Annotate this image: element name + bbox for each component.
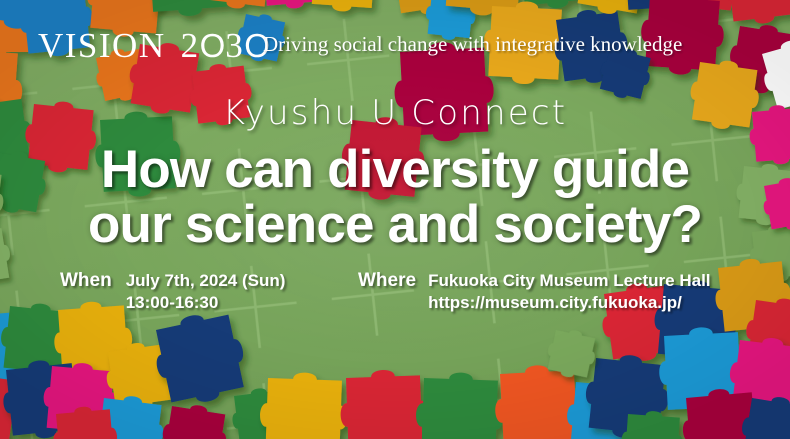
vision-tagline: Driving social change with integrative k…: [263, 34, 682, 55]
when-date: July 7th, 2024 (Sun): [126, 270, 286, 292]
vision-year-zero-1: O: [200, 27, 226, 64]
banner-content: VISION 2O3O Driving social change with i…: [0, 0, 790, 439]
where-url[interactable]: https://museum.city.fukuoka.jp/: [428, 292, 710, 314]
where-label: Where: [358, 270, 416, 292]
where-venue: Fukuoka City Museum Lecture Hall: [428, 270, 710, 292]
headline: How can diversity guide our science and …: [0, 142, 790, 252]
vision-word: VISION: [38, 28, 166, 63]
event-details: When July 7th, 2024 (Sun) 13:00-16:30 Wh…: [0, 270, 790, 326]
detail-where: Where Fukuoka City Museum Lecture Hall h…: [358, 270, 711, 314]
headline-line-1: How can diversity guide: [0, 142, 790, 197]
when-time: 13:00-16:30: [126, 292, 286, 314]
headline-line-2: our science and society?: [0, 197, 790, 252]
vision-2030-logo: VISION 2O3O: [38, 28, 270, 63]
series-name: Kyushu U Connect: [0, 96, 790, 130]
vision-year-digit-2: 2: [181, 26, 200, 65]
where-values: Fukuoka City Museum Lecture Hall https:/…: [428, 270, 710, 314]
when-values: July 7th, 2024 (Sun) 13:00-16:30: [126, 270, 286, 314]
vision-year-digit-3: 3: [225, 26, 244, 65]
detail-when: When July 7th, 2024 (Sun) 13:00-16:30: [60, 270, 285, 314]
vision-year: 2O3O: [181, 28, 270, 63]
event-banner: VISION 2O3O Driving social change with i…: [0, 0, 790, 439]
when-label: When: [60, 270, 112, 292]
